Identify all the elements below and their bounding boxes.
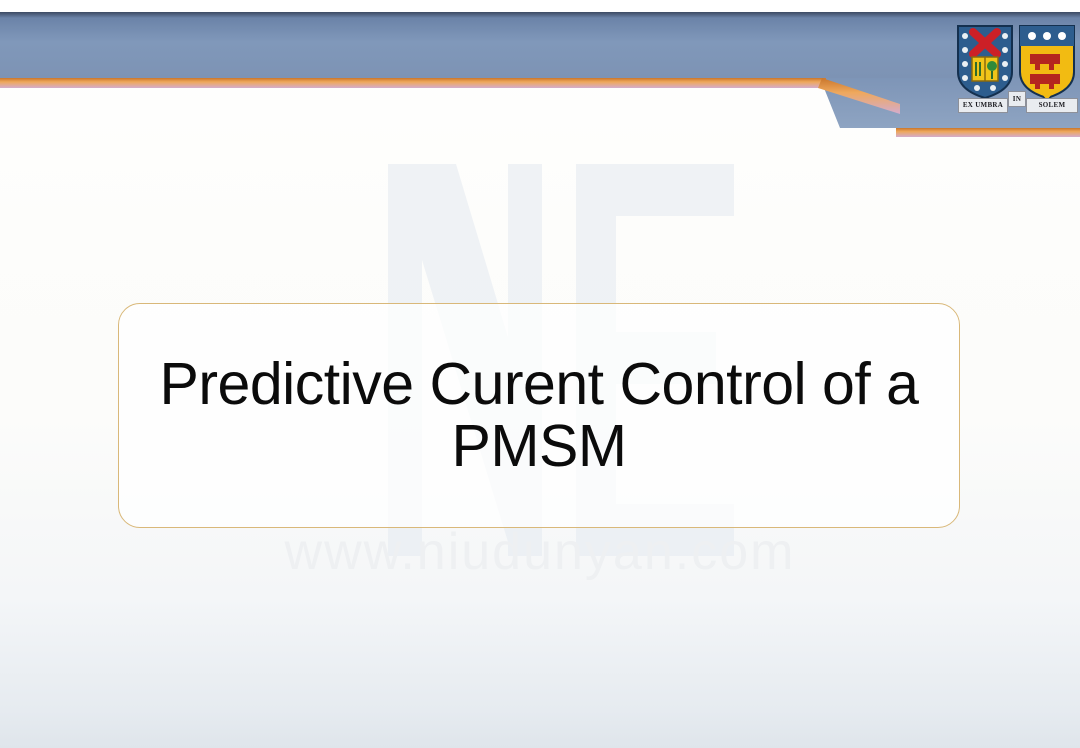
motto-middle-segment: IN — [1008, 91, 1026, 107]
banner-main-band — [0, 12, 1080, 78]
crest-motto: EX UMBRA IN SOLEM — [954, 96, 1078, 113]
banner-accent-stripe — [0, 78, 826, 88]
header-banner — [0, 0, 1080, 150]
valparaiso-shield-icon — [1018, 24, 1076, 100]
site-watermark: www.niudunyan.com — [0, 522, 1080, 582]
banner-accent-stripe-lower — [896, 128, 1080, 137]
presentation-slide: www.niudunyan.com — [0, 0, 1080, 748]
motto-left-segment: EX UMBRA — [958, 98, 1008, 113]
slide-title: Predictive Curent Control of a PMSM — [119, 354, 959, 478]
utfsm-shield-icon — [956, 24, 1014, 100]
university-crest: EX UMBRA IN SOLEM — [952, 24, 1080, 118]
motto-right-segment: SOLEM — [1026, 98, 1078, 113]
banner-accent-diagonal — [818, 78, 900, 114]
title-card: Predictive Curent Control of a PMSM — [118, 303, 960, 528]
